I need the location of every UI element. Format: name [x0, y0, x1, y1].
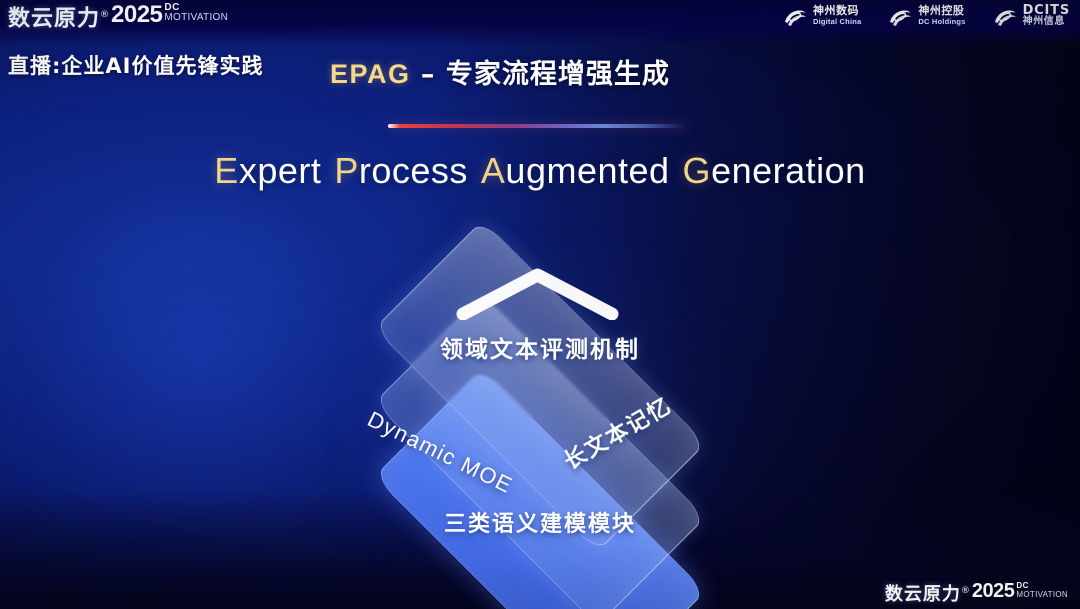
background-vignette	[0, 0, 1080, 609]
registered-mark: ®	[961, 586, 971, 596]
brand-year: 2025	[972, 581, 1015, 602]
brand-motivation-line: MOTIVATION	[1016, 591, 1068, 600]
brand-dc-motivation: DC MOTIVATION	[1016, 582, 1068, 599]
brand-logo-watermark: 数云原力® 2025 DC MOTIVATION	[885, 581, 1068, 605]
slide-canvas: 数云原力® 2025 DC MOTIVATION 直播:企业AI价值先锋实践 神…	[0, 0, 1080, 609]
brand-name-cn: 数云原力®	[885, 581, 971, 605]
